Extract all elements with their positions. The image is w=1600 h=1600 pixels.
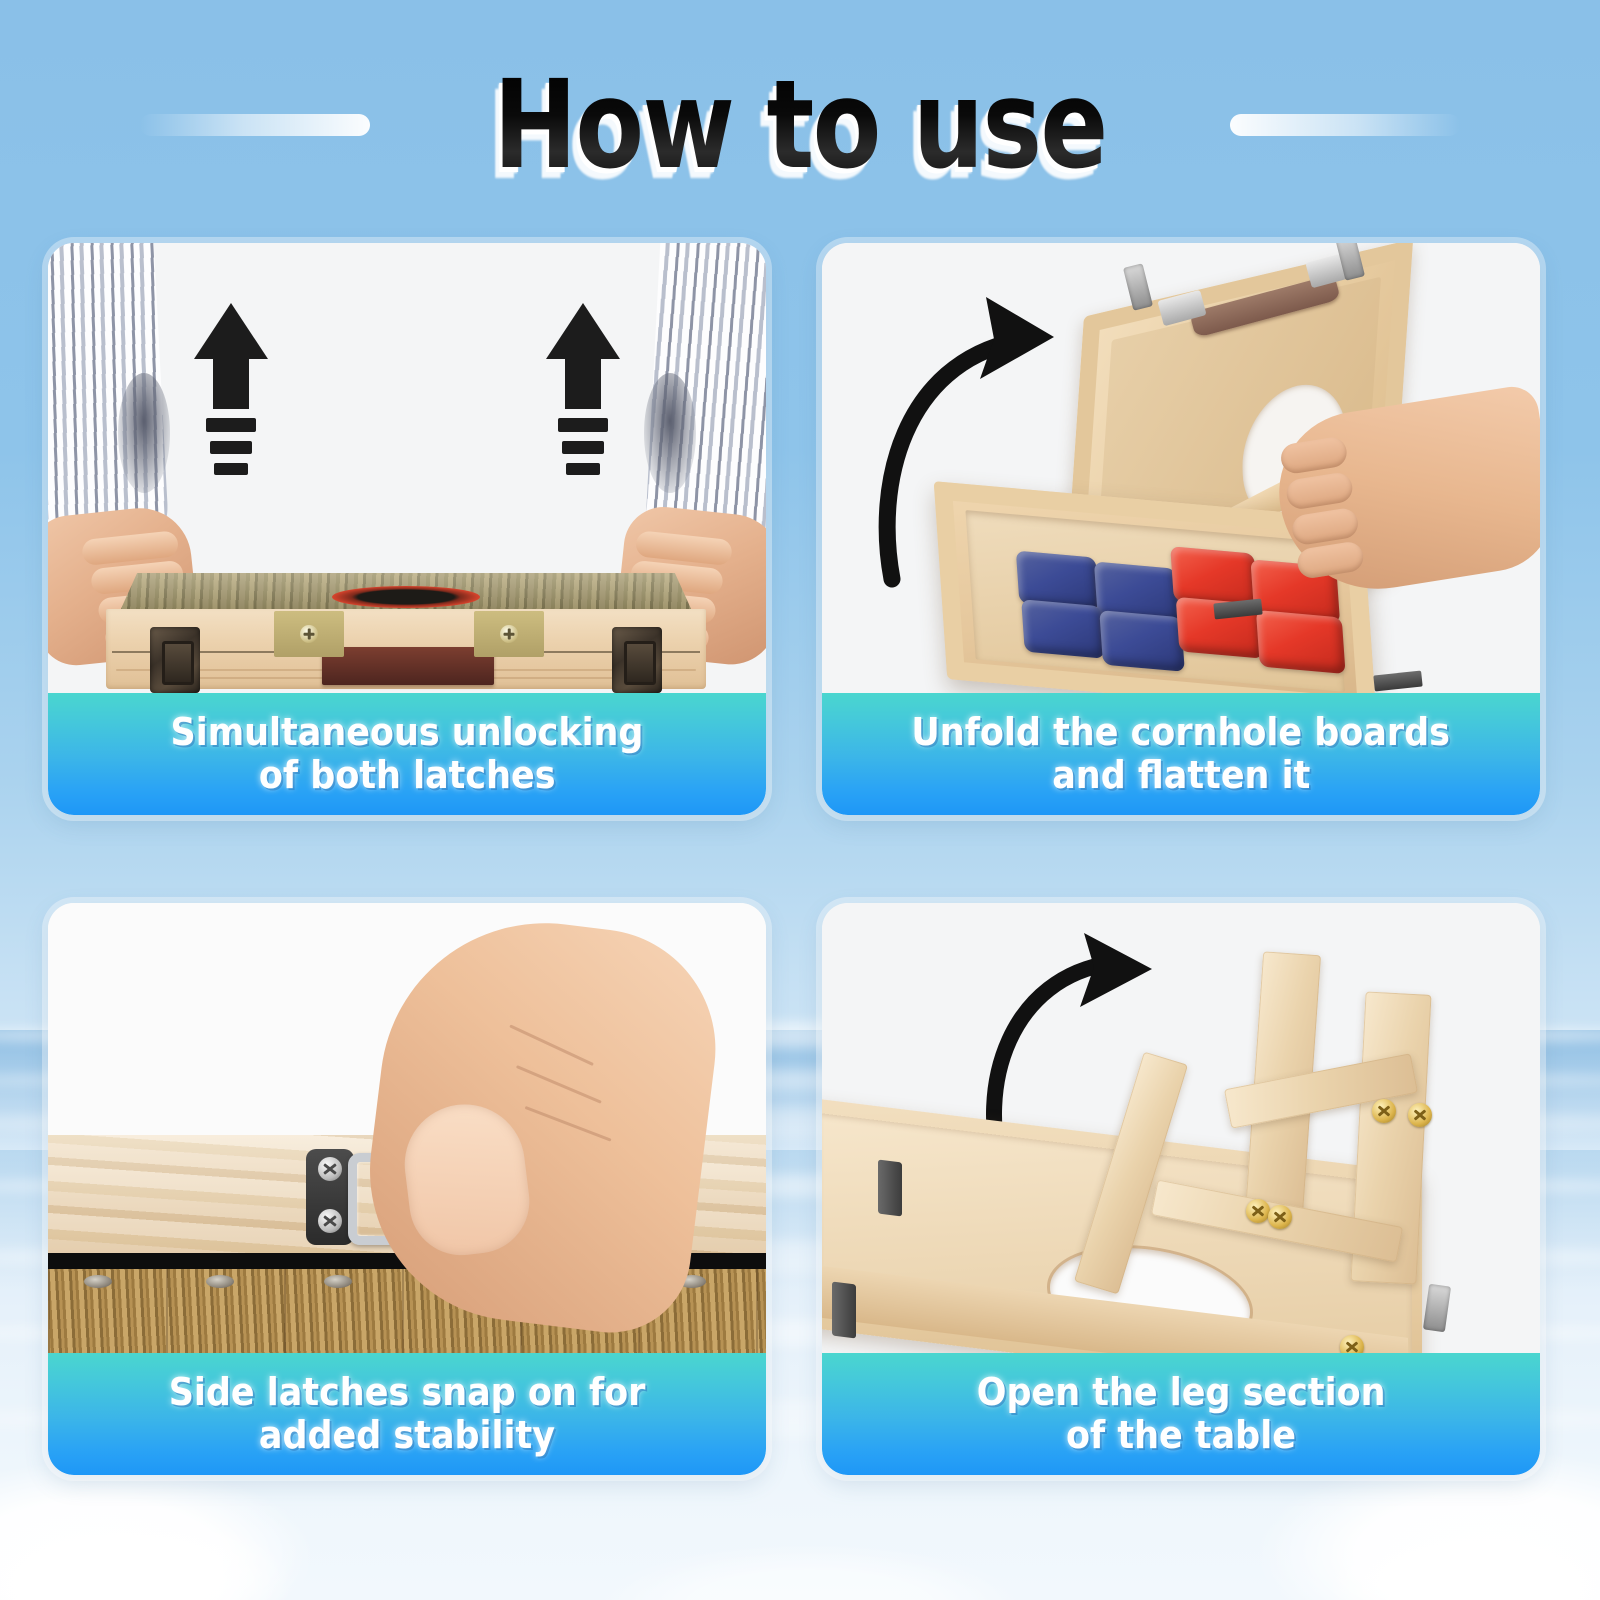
step-2-photo [822, 243, 1540, 693]
motion-dash [566, 463, 600, 475]
step-card-1[interactable]: Simultaneous unlocking of both latches [48, 243, 766, 815]
infographic-canvas: How to use [0, 0, 1600, 1600]
caption-line-1: Simultaneous unlocking [171, 711, 644, 754]
nail-head-icon [84, 1275, 112, 1288]
step-3-caption: Side latches snap on for added stability [48, 1353, 766, 1475]
screw-icon [1372, 1099, 1396, 1123]
caption-line-1: Side latches snap on for [169, 1371, 646, 1414]
motion-dash [562, 441, 604, 454]
finger [1290, 506, 1360, 546]
title-dash-right-icon [1230, 114, 1460, 136]
finger [1285, 471, 1355, 511]
screw-icon [500, 625, 518, 643]
cloud-shape [0, 1512, 290, 1600]
motion-dash [210, 441, 252, 454]
screw-icon [1246, 1199, 1270, 1223]
step-card-4[interactable]: Open the leg section of the table [822, 903, 1540, 1475]
screw-icon [1340, 1335, 1364, 1353]
motion-dash [558, 418, 608, 432]
arrow-stem [565, 359, 601, 409]
skin-crease [509, 1024, 594, 1066]
step-4-caption: Open the leg section of the table [822, 1353, 1540, 1475]
caption-line-1: Unfold the cornhole boards [912, 711, 1451, 754]
page-title: How to use [493, 64, 1106, 186]
skin-crease [516, 1065, 602, 1104]
caption-line-2: of both latches [259, 754, 556, 797]
screw-icon [318, 1209, 342, 1233]
arrow-up-right-icon [546, 303, 620, 475]
nail-head-icon [324, 1275, 352, 1288]
screw-icon [318, 1157, 342, 1181]
caption-line-1: Open the leg section [977, 1371, 1386, 1414]
arrow-head [194, 303, 268, 359]
latch-left[interactable] [150, 627, 200, 693]
case-top-surface [120, 573, 692, 611]
page-title-row: How to use [0, 60, 1600, 190]
step-1-photo [48, 243, 766, 693]
latch-right[interactable] [612, 627, 662, 693]
screw-icon [300, 625, 318, 643]
handle-bracket-left [274, 611, 344, 657]
cornhole-target-hole [332, 586, 480, 608]
finger [1296, 540, 1366, 580]
bean-bag-red [1256, 610, 1346, 674]
cloud-shape [0, 1462, 310, 1600]
screw-icon [1408, 1103, 1432, 1127]
cloud-shape [600, 1545, 1020, 1600]
step-1-caption: Simultaneous unlocking of both latches [48, 693, 766, 815]
arrow-up-left-icon [194, 303, 268, 475]
sleeve-shadow [644, 373, 696, 493]
arrow-head [546, 303, 620, 359]
step-4-photo [822, 903, 1540, 1353]
caption-line-2: and flatten it [1052, 754, 1310, 797]
sleeve-shadow [118, 373, 170, 493]
clasp-left[interactable] [1123, 263, 1153, 311]
nail-head-icon [206, 1275, 234, 1288]
hinge [878, 1160, 902, 1217]
step-card-3[interactable]: Side latches snap on for added stability [48, 903, 766, 1475]
title-dash-left-icon [140, 114, 370, 136]
motion-dash [206, 418, 256, 432]
bean-bag-blue [1021, 599, 1104, 659]
leg-lock-clasp[interactable] [1423, 1284, 1451, 1333]
screw-icon [1268, 1205, 1292, 1229]
cloud-shape [1330, 1520, 1600, 1600]
carry-handle [322, 647, 494, 685]
handle-bracket-right [474, 611, 544, 657]
bean-bag-blue [1099, 610, 1185, 672]
step-3-photo [48, 903, 766, 1353]
thumbnail [398, 1098, 535, 1262]
caption-line-2: added stability [259, 1414, 555, 1457]
motion-dash [214, 463, 248, 475]
hinge [832, 1282, 856, 1339]
arrow-stem [213, 359, 249, 409]
step-2-caption: Unfold the cornhole boards and flatten i… [822, 693, 1540, 815]
hinge [1373, 671, 1422, 692]
caption-line-2: of the table [1066, 1414, 1296, 1457]
skin-crease [525, 1106, 612, 1142]
latch-mounting-plate [306, 1149, 354, 1245]
folded-cornhole-case [106, 573, 706, 689]
step-card-2[interactable]: Unfold the cornhole boards and flatten i… [822, 243, 1540, 815]
